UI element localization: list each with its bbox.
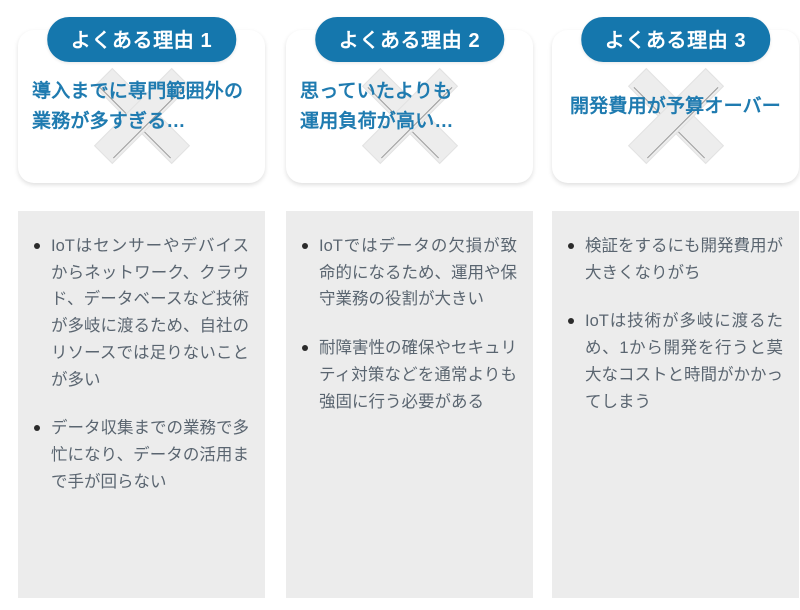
- reason-column-3: 開発費用が予算オーバー よくある理由 3 検証をするにも開発費用が大きくなりがち…: [552, 0, 799, 610]
- reason-heading-line: 導入までに専門範囲外の: [32, 77, 251, 106]
- reason-detail-panel-2: IoTではデータの欠損が致命的になるため、運用や保守業務の役割が大きい 耐障害性…: [286, 211, 533, 598]
- reason-badge-1: よくある理由 1: [47, 17, 236, 62]
- reason-bullet-list-3: 検証をするにも開発費用が大きくなりがち IoTは技術が多岐に渡るため、1から開発…: [566, 233, 783, 415]
- reason-card-wrap-3: 開発費用が予算オーバー よくある理由 3: [552, 0, 799, 183]
- reason-card-wrap-2: 思っていたよりも 運用負荷が高い… よくある理由 2: [286, 0, 533, 183]
- reason-bullet-list-1: IoTはセンサーやデバイスからネットワーク、クラウド、データベースなど技術が多岐…: [32, 233, 249, 495]
- reason-detail-panel-1: IoTはセンサーやデバイスからネットワーク、クラウド、データベースなど技術が多岐…: [18, 211, 265, 598]
- reason-heading-line: 開発費用が予算オーバー: [558, 92, 793, 121]
- list-item: IoTは技術が多岐に渡るため、1から開発を行うと莫大なコストと時間がかかってしま…: [566, 308, 783, 415]
- reason-heading-line: 業務が多すぎる…: [32, 107, 251, 136]
- reason-badge-3: よくある理由 3: [581, 17, 770, 62]
- reason-detail-panel-3: 検証をするにも開発費用が大きくなりがち IoTは技術が多岐に渡るため、1から開発…: [552, 211, 799, 598]
- reason-bullet-list-2: IoTではデータの欠損が致命的になるため、運用や保守業務の役割が大きい 耐障害性…: [300, 233, 517, 415]
- list-item: 耐障害性の確保やセキュリティ対策などを通常よりも 強固に行う必要がある: [300, 335, 517, 415]
- list-item: IoTはセンサーやデバイスからネットワーク、クラウド、データベースなど技術が多岐…: [32, 233, 249, 393]
- reason-heading-line: 運用負荷が高い…: [300, 107, 519, 136]
- list-item: データ収集までの業務で多忙になり、データの活用まで手が回らない: [32, 415, 249, 495]
- list-item: IoTではデータの欠損が致命的になるため、運用や保守業務の役割が大きい: [300, 233, 517, 313]
- list-item: 検証をするにも開発費用が大きくなりがち: [566, 233, 783, 286]
- reason-heading-line: 思っていたよりも: [300, 77, 519, 106]
- reason-card-wrap-1: 導入までに専門範囲外の 業務が多すぎる… よくある理由 1: [18, 0, 265, 183]
- reason-column-2: 思っていたよりも 運用負荷が高い… よくある理由 2 IoTではデータの欠損が致…: [286, 0, 533, 610]
- reason-column-1: 導入までに専門範囲外の 業務が多すぎる… よくある理由 1 IoTはセンサーやデ…: [18, 0, 265, 610]
- reasons-board: 導入までに専門範囲外の 業務が多すぎる… よくある理由 1 IoTはセンサーやデ…: [0, 0, 800, 610]
- reason-badge-2: よくある理由 2: [315, 17, 504, 62]
